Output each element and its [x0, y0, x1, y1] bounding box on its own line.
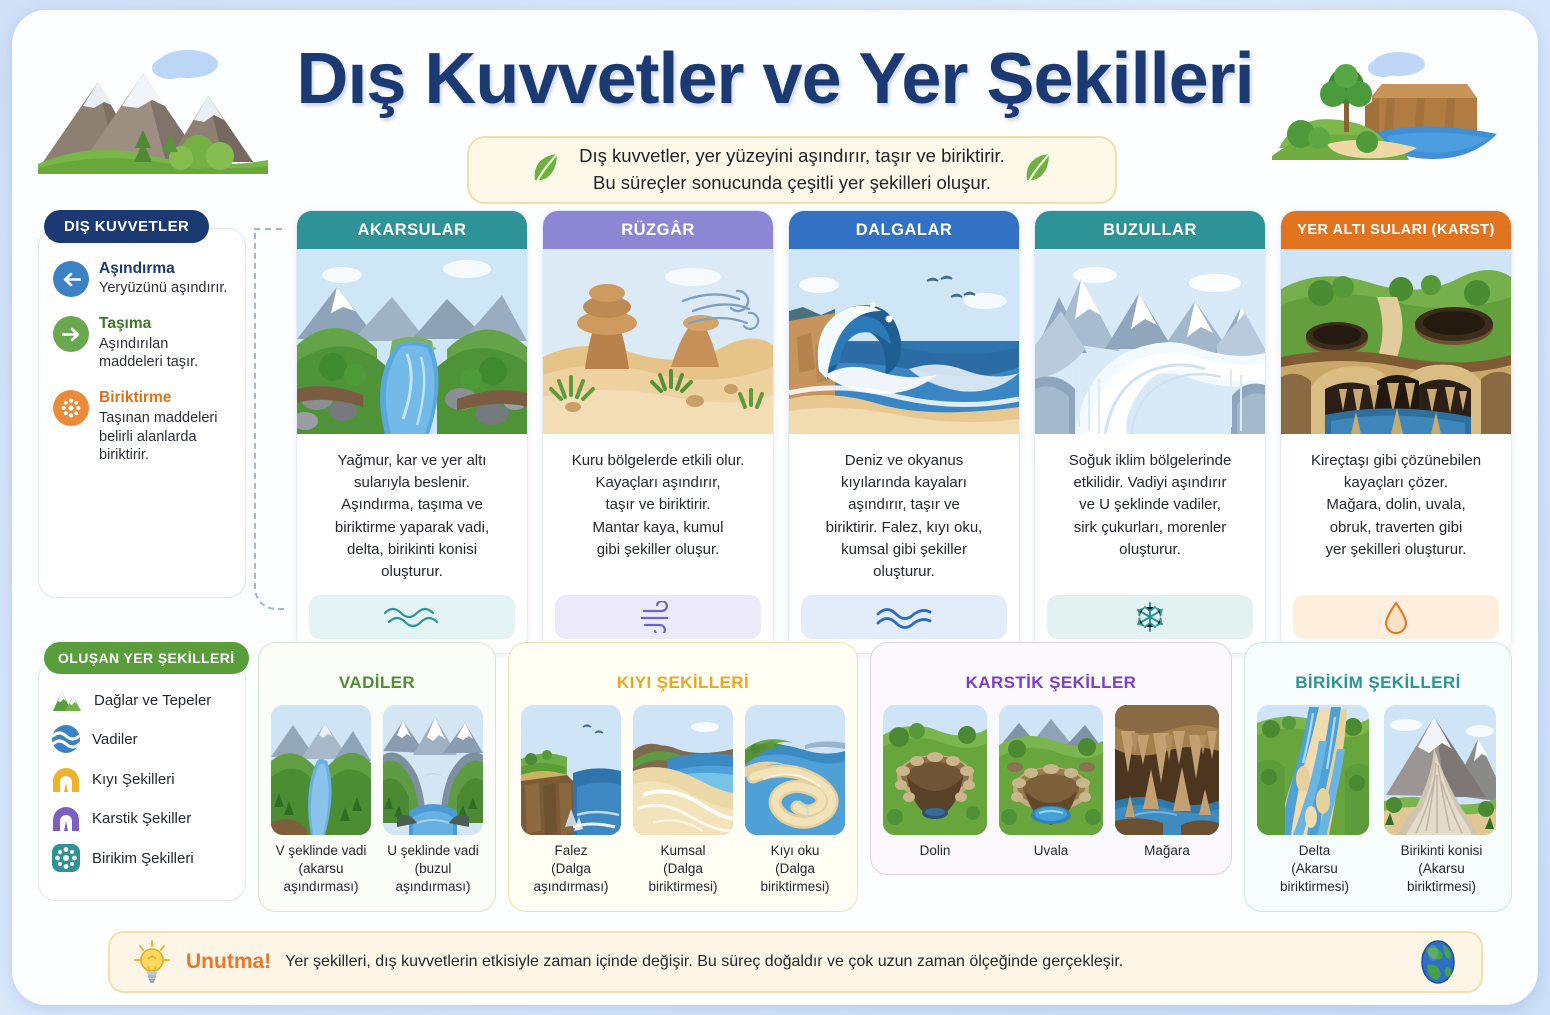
legend-item-karstik[interactable]: Karstik Şekiller — [51, 804, 233, 832]
landform-caption: Uvala — [999, 842, 1103, 860]
landform-caption: Falez(Dalga aşındırması) — [521, 842, 621, 897]
legend-badge: OLUŞAN YER ŞEKİLLERİ — [44, 642, 249, 674]
card-pill — [555, 595, 761, 639]
karst-illustration — [1281, 249, 1511, 434]
landform-delta[interactable]: Delta(Akarsu biriktirmesi) — [1257, 705, 1372, 897]
landform-kumsal[interactable]: Kumsal(Dalga biriktirmesi) — [633, 705, 733, 897]
landforms-legend: OLUŞAN YER ŞEKİLLERİ Dağlar ve Tepeler — [38, 642, 246, 901]
header: Dış Kuvvetler ve Yer Şekilleri — [12, 10, 1538, 210]
alluvial-fan-art — [1384, 705, 1496, 835]
subtitle-banner: Dış kuvvetler, yer yüzeyini aşındırır, t… — [467, 136, 1117, 204]
force-desc: Yeryüzünü aşındırır. — [99, 279, 231, 298]
force-item-tasima[interactable]: Taşıma Aşındırılan maddeleri taşır. — [53, 314, 231, 372]
landform-name: Dolin — [920, 843, 951, 858]
plateau-illustration — [1267, 36, 1512, 176]
u-valley-art — [383, 705, 483, 835]
beach-art — [633, 705, 733, 835]
card-pill — [1047, 595, 1253, 639]
delta-art — [1257, 705, 1369, 835]
valley-water-icon — [51, 724, 81, 754]
force-title: Biriktirme — [99, 388, 231, 407]
card-title: BUZULLAR — [1035, 211, 1265, 249]
wind-desert-illustration — [543, 249, 773, 434]
legend-label: Birikim Şekilleri — [92, 850, 194, 867]
force-desc: Aşındırılan maddeleri taşır. — [99, 335, 231, 373]
glacier-illustration — [1035, 249, 1265, 434]
force-cards: AKARSULAR — [260, 210, 1512, 654]
landform-caption: Kumsal(Dalga biriktirmesi) — [633, 842, 733, 897]
landform-sub: (Akarsu biriktirmesi) — [1407, 861, 1476, 894]
subtitle-text: Dış kuvvetler, yer yüzeyini aşındırır, t… — [579, 143, 1005, 197]
cliff-art — [521, 705, 621, 835]
landform-name: U şeklinde vadi — [387, 843, 479, 858]
legend-label: Dağlar ve Tepeler — [94, 692, 211, 709]
landform-caption: Birikinti konisi(Akarsu biriktirmesi) — [1384, 842, 1499, 897]
legend-item-kiyi[interactable]: Kıyı Şekilleri — [51, 765, 233, 793]
landform-name: Kıyı oku — [771, 843, 820, 858]
globe-icon — [1417, 939, 1459, 985]
group-title: KIYI ŞEKİLLERİ — [521, 673, 845, 693]
card-text: Yağmur, kar ve yer altı sularıyla beslen… — [297, 434, 527, 591]
card-pill — [309, 595, 515, 639]
legend-item-daglar[interactable]: Dağlar ve Tepeler — [51, 687, 233, 713]
legend-label: Kıyı Şekilleri — [92, 771, 175, 788]
forces-row: DIŞ KUVVETLER Aşındırma Yeryüzünü aşındı… — [38, 210, 1512, 654]
landform-uvala[interactable]: Uvala — [999, 705, 1103, 860]
landform-name: Birikinti konisi — [1401, 843, 1483, 858]
wave-icon — [873, 602, 935, 632]
deposit-dots-icon — [53, 390, 89, 426]
card-ruzgar[interactable]: RÜZGÂR — [542, 210, 774, 654]
group-title: BİRİKİM ŞEKİLLERİ — [1257, 673, 1499, 693]
legend-list: Dağlar ve Tepeler Vadiler — [38, 660, 246, 901]
card-dalgalar[interactable]: DALGALAR — [788, 210, 1020, 654]
legend-label: Karstik Şekiller — [92, 810, 191, 827]
landform-caption: U şeklinde vadi(buzul aşındırması) — [383, 842, 483, 897]
deposit-dots-icon — [51, 843, 81, 873]
group-birikim-sekilleri: BİRİKİM ŞEKİLLERİ — [1244, 642, 1512, 912]
group-title: KARSTİK ŞEKİLLER — [883, 673, 1219, 693]
leaf-icon-right — [1021, 150, 1055, 190]
coast-arch-icon — [51, 765, 81, 793]
landform-name: Kumsal — [660, 843, 705, 858]
wind-icon — [636, 601, 680, 633]
landform-sub: (Dalga biriktirmesi) — [649, 861, 718, 894]
card-text: Soğuk iklim bölgelerinde etkilidir. Vadi… — [1035, 434, 1265, 591]
water-drop-icon — [1383, 600, 1409, 634]
card-text: Kireçtaşı gibi çözünebilen kayaçları çöz… — [1281, 434, 1511, 591]
group-title: VADİLER — [271, 673, 483, 693]
karst-arch-icon — [51, 804, 81, 832]
landform-caption: Mağara — [1115, 842, 1219, 860]
card-buzullar[interactable]: BUZULLAR — [1034, 210, 1266, 654]
landform-name: V şeklinde vadi — [276, 843, 367, 858]
forces-badge: DIŞ KUVVETLER — [44, 210, 209, 243]
footer-note: Unutma! Yer şekilleri, dış kuvvetlerin e… — [108, 931, 1483, 993]
card-pill — [1293, 595, 1499, 639]
arrow-left-icon — [53, 261, 89, 297]
landform-sub: (Dalga aşındırması) — [533, 861, 608, 894]
group-kiyi-sekilleri: KIYI ŞEKİLLERİ — [508, 642, 858, 912]
landforms-row: OLUŞAN YER ŞEKİLLERİ Dağlar ve Tepeler — [38, 642, 1512, 912]
force-item-asindirma[interactable]: Aşındırma Yeryüzünü aşındırır. — [53, 259, 231, 298]
footer-keyword: Unutma! — [186, 950, 271, 974]
legend-item-birikim[interactable]: Birikim Şekilleri — [51, 843, 233, 873]
legend-label: Vadiler — [92, 731, 138, 748]
landform-name: Mağara — [1144, 843, 1190, 858]
group-karstik-sekiller: KARSTİK ŞEKİLLER — [870, 642, 1232, 875]
cave-art — [1115, 705, 1219, 835]
landform-caption: Delta(Akarsu biriktirmesi) — [1257, 842, 1372, 897]
landform-sub: (akarsu aşındırması) — [283, 861, 358, 894]
group-vadiler: VADİLER — [258, 642, 496, 912]
force-title: Aşındırma — [99, 259, 231, 278]
landform-magara[interactable]: Mağara — [1115, 705, 1219, 860]
landform-caption: Kıyı oku(Dalga biriktirmesi) — [745, 842, 845, 897]
landform-falez[interactable]: Falez(Dalga aşındırması) — [521, 705, 621, 897]
card-akarsular[interactable]: AKARSULAR — [296, 210, 528, 654]
card-text: Deniz ve okyanus kıyılarında kayaları aş… — [789, 434, 1019, 591]
snowflake-icon — [1133, 600, 1167, 634]
arrow-right-icon — [53, 316, 89, 352]
legend-item-vadiler[interactable]: Vadiler — [51, 724, 233, 754]
landform-u-valley[interactable]: U şeklinde vadi(buzul aşındırması) — [383, 705, 483, 897]
lightbulb-icon — [132, 938, 172, 986]
landform-name: Falez — [554, 843, 587, 858]
landform-caption: V şeklinde vadi(akarsu aşındırması) — [271, 842, 371, 897]
card-pill — [801, 595, 1007, 639]
v-valley-art — [271, 705, 371, 835]
river-illustration — [297, 249, 527, 434]
landform-sub: (Akarsu biriktirmesi) — [1280, 861, 1349, 894]
landform-kiyi-oku[interactable]: Kıyı oku(Dalga biriktirmesi) — [745, 705, 845, 897]
force-title: Taşıma — [99, 314, 231, 333]
dolin-art — [883, 705, 987, 835]
landform-name: Delta — [1299, 843, 1331, 858]
water-waves-icon — [381, 602, 443, 632]
landform-sub: (Dalga biriktirmesi) — [761, 861, 830, 894]
card-karst[interactable]: YER ALTI SULARI (KARST) — [1280, 210, 1512, 654]
landform-birikinti-konisi[interactable]: Birikinti konisi(Akarsu biriktirmesi) — [1384, 705, 1499, 897]
forces-sidebar: DIŞ KUVVETLER Aşındırma Yeryüzünü aşındı… — [38, 210, 246, 654]
landform-sub: (buzul aşındırması) — [395, 861, 470, 894]
card-title: DALGALAR — [789, 211, 1019, 249]
card-title: AKARSULAR — [297, 211, 527, 249]
leaf-icon-left — [529, 150, 563, 190]
card-title: YER ALTI SULARI (KARST) — [1281, 211, 1511, 249]
forces-list: Aşındırma Yeryüzünü aşındırır. Taşıma Aş… — [38, 228, 246, 598]
landform-caption: Dolin — [883, 842, 987, 860]
footer-text: Yer şekilleri, dış kuvvetlerin etkisiyle… — [285, 953, 1403, 971]
landform-dolin[interactable]: Dolin — [883, 705, 987, 860]
card-title: RÜZGÂR — [543, 211, 773, 249]
landform-name: Uvala — [1034, 843, 1069, 858]
mountain-icon — [51, 687, 83, 713]
card-text: Kuru bölgelerde etkili olur. Kayaçları a… — [543, 434, 773, 591]
uvala-art — [999, 705, 1103, 835]
infographic-page: Dış Kuvvetler ve Yer Şekilleri — [12, 10, 1538, 1005]
landform-v-valley[interactable]: V şeklinde vadi(akarsu aşındırması) — [271, 705, 371, 897]
waves-coast-illustration — [789, 249, 1019, 434]
force-item-biriktirme[interactable]: Biriktirme Taşınan maddeleri belirli ala… — [53, 388, 231, 465]
spit-art — [745, 705, 845, 835]
force-desc: Taşınan maddeleri belirli alanlarda biri… — [99, 409, 231, 466]
